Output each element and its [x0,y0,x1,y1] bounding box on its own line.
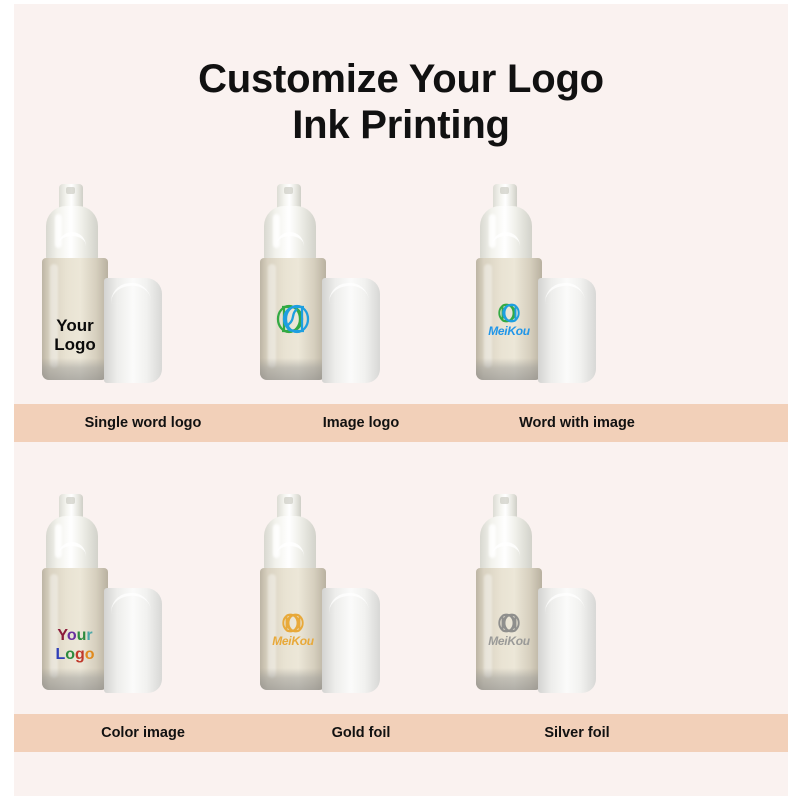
bottle-gloss [50,574,58,678]
bottle-cap [322,278,380,383]
bottle-body [42,568,108,690]
bottle-body [476,568,542,690]
bottle-illustration: MeiKou [246,480,446,710]
product-row-2: Your Logo [14,480,788,710]
bottle-gloss [50,264,58,368]
bottle-illustration: Your Logo [28,480,228,710]
title-line-2: Ink Printing [14,102,788,148]
bottle-illustration: MeiKou [462,170,662,400]
product-label-word-with-image: Word with image [448,404,706,442]
bottle-illustration [246,170,446,400]
bottle-body [260,568,326,690]
title-line-1: Customize Your Logo [198,57,604,101]
pump-head-icon [480,516,532,572]
pump-head-icon [264,206,316,262]
product-cell-silver-foil[interactable]: MeiKou [448,480,706,710]
label-bar-row-1: Single word logo Image logo Word with im… [14,404,788,442]
bottle-illustration: MeiKou [462,480,662,710]
bottle-cap [322,588,380,693]
page-title: Customize Your Logo Ink Printing [14,56,788,148]
bottle-cap [538,588,596,693]
product-label-silver-foil: Silver foil [448,714,706,752]
bottle-body [260,258,326,380]
bottle-cap [104,278,162,383]
product-cell-word-with-image[interactable]: MeiKou [448,170,706,400]
bottle-cap [538,278,596,383]
bottle-illustration: Your Logo [28,170,228,400]
product-poster: Customize Your Logo Ink Printing Your Lo… [0,0,800,800]
label-bar-row-2: Color image Gold foil Silver foil [14,714,788,752]
bottle-gloss [268,574,276,678]
bottle-body [42,258,108,380]
bottle-gloss [268,264,276,368]
product-row-1: Your Logo [14,170,788,400]
pump-head-icon [264,516,316,572]
pump-head-icon [46,206,98,262]
bottle-gloss [484,264,492,368]
bottle-gloss [484,574,492,678]
pump-head-icon [480,206,532,262]
pump-head-icon [46,516,98,572]
bottle-body [476,258,542,380]
bottle-cap [104,588,162,693]
